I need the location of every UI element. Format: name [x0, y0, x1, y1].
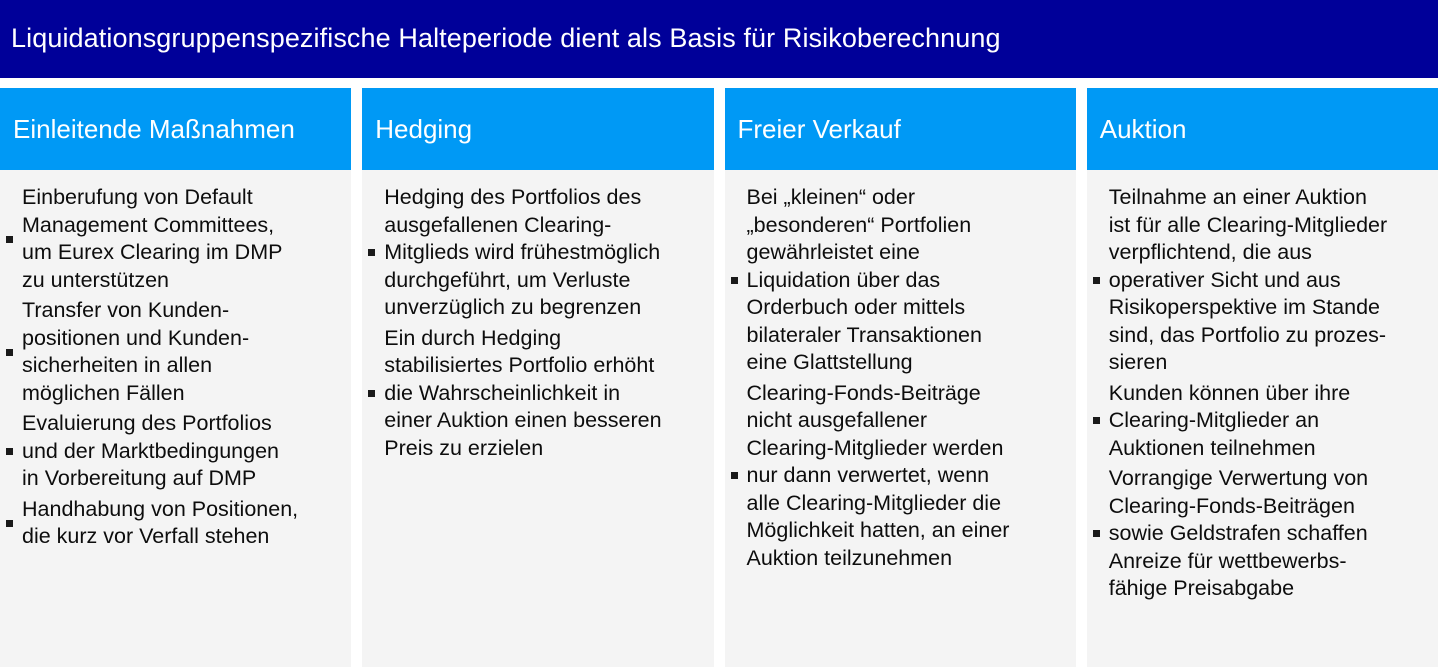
columns-container: Einleitende Maßnahmen Einberufung von De… [0, 88, 1438, 667]
list-item: Handhabung von Positionen, die kurz vor … [6, 496, 341, 551]
square-bullet-icon [368, 390, 375, 397]
bullet-text: Bei „kleinen“ oder „besonderen“ Portfoli… [747, 184, 1066, 377]
bullet-text: Kunden können über ihre Clearing-Mitglie… [1109, 380, 1428, 463]
slide-title-bar: Liquidationsgruppenspezifische Halteperi… [0, 0, 1438, 78]
bullet-list-3: Bei „kleinen“ oder „besonderen“ Portfoli… [731, 184, 1066, 572]
column-body-3: Bei „kleinen“ oder „besonderen“ Portfoli… [725, 170, 1076, 667]
column-hedging: Hedging Hedging des Portfolios des ausge… [362, 88, 713, 667]
list-item: Vorrangige Verwertung von Clearing-Fonds… [1093, 465, 1428, 603]
bullet-text: Evaluierung des Portfolios und der Markt… [22, 410, 341, 493]
bullet-text: Clearing-Fonds-Beiträge nicht ausgefalle… [747, 380, 1066, 573]
bullet-text: Einberufung von Default Management Commi… [22, 184, 341, 294]
list-item: Hedging des Portfolios des ausgefallenen… [368, 184, 703, 322]
bullet-text: Ein durch Hedging stabilisiertes Portfol… [384, 325, 703, 463]
list-item: Transfer von Kunden- positionen und Kund… [6, 297, 341, 407]
square-bullet-icon [6, 520, 13, 527]
list-item: Ein durch Hedging stabilisiertes Portfol… [368, 325, 703, 463]
bullet-text: Vorrangige Verwertung von Clearing-Fonds… [1109, 465, 1428, 603]
square-bullet-icon [731, 277, 738, 284]
column-header-3[interactable]: Freier Verkauf [725, 88, 1076, 170]
column-body-4: Teilnahme an einer Auktion ist für alle … [1087, 170, 1438, 667]
column-header-1[interactable]: Einleitende Maßnahmen [0, 88, 351, 170]
column-body-2: Hedging des Portfolios des ausgefallenen… [362, 170, 713, 667]
square-bullet-icon [1093, 277, 1100, 284]
list-item: Einberufung von Default Management Commi… [6, 184, 341, 294]
list-item: Teilnahme an einer Auktion ist für alle … [1093, 184, 1428, 377]
column-header-label-4: Auktion [1087, 115, 1187, 144]
square-bullet-icon [6, 236, 13, 243]
column-auktion: Auktion Teilnahme an einer Auktion ist f… [1087, 88, 1438, 667]
bullet-text: Teilnahme an einer Auktion ist für alle … [1109, 184, 1428, 377]
slide-canvas: Liquidationsgruppenspezifische Halteperi… [0, 0, 1438, 667]
column-einleitende-massnahmen: Einleitende Maßnahmen Einberufung von De… [0, 88, 351, 667]
list-item: Kunden können über ihre Clearing-Mitglie… [1093, 380, 1428, 463]
square-bullet-icon [368, 249, 375, 256]
bullet-list-1: Einberufung von Default Management Commi… [6, 184, 341, 551]
list-item: Evaluierung des Portfolios und der Markt… [6, 410, 341, 493]
column-header-label-3: Freier Verkauf [725, 115, 901, 144]
column-freier-verkauf: Freier Verkauf Bei „kleinen“ oder „beson… [725, 88, 1076, 667]
bullet-text: Handhabung von Positionen, die kurz vor … [22, 496, 341, 551]
square-bullet-icon [6, 349, 13, 356]
column-header-label-1: Einleitende Maßnahmen [0, 115, 295, 144]
slide-title: Liquidationsgruppenspezifische Halteperi… [0, 24, 1001, 54]
column-header-4[interactable]: Auktion [1087, 88, 1438, 170]
square-bullet-icon [1093, 530, 1100, 537]
list-item: Bei „kleinen“ oder „besonderen“ Portfoli… [731, 184, 1066, 377]
bullet-text: Hedging des Portfolios des ausgefallenen… [384, 184, 703, 322]
bullet-text: Transfer von Kunden- positionen und Kund… [22, 297, 341, 407]
bullet-list-4: Teilnahme an einer Auktion ist für alle … [1093, 184, 1428, 603]
column-body-1: Einberufung von Default Management Commi… [0, 170, 351, 667]
list-item: Clearing-Fonds-Beiträge nicht ausgefalle… [731, 380, 1066, 573]
square-bullet-icon [1093, 417, 1100, 424]
square-bullet-icon [6, 448, 13, 455]
square-bullet-icon [731, 472, 738, 479]
column-header-2[interactable]: Hedging [362, 88, 713, 170]
column-header-label-2: Hedging [362, 115, 472, 144]
bullet-list-2: Hedging des Portfolios des ausgefallenen… [368, 184, 703, 462]
